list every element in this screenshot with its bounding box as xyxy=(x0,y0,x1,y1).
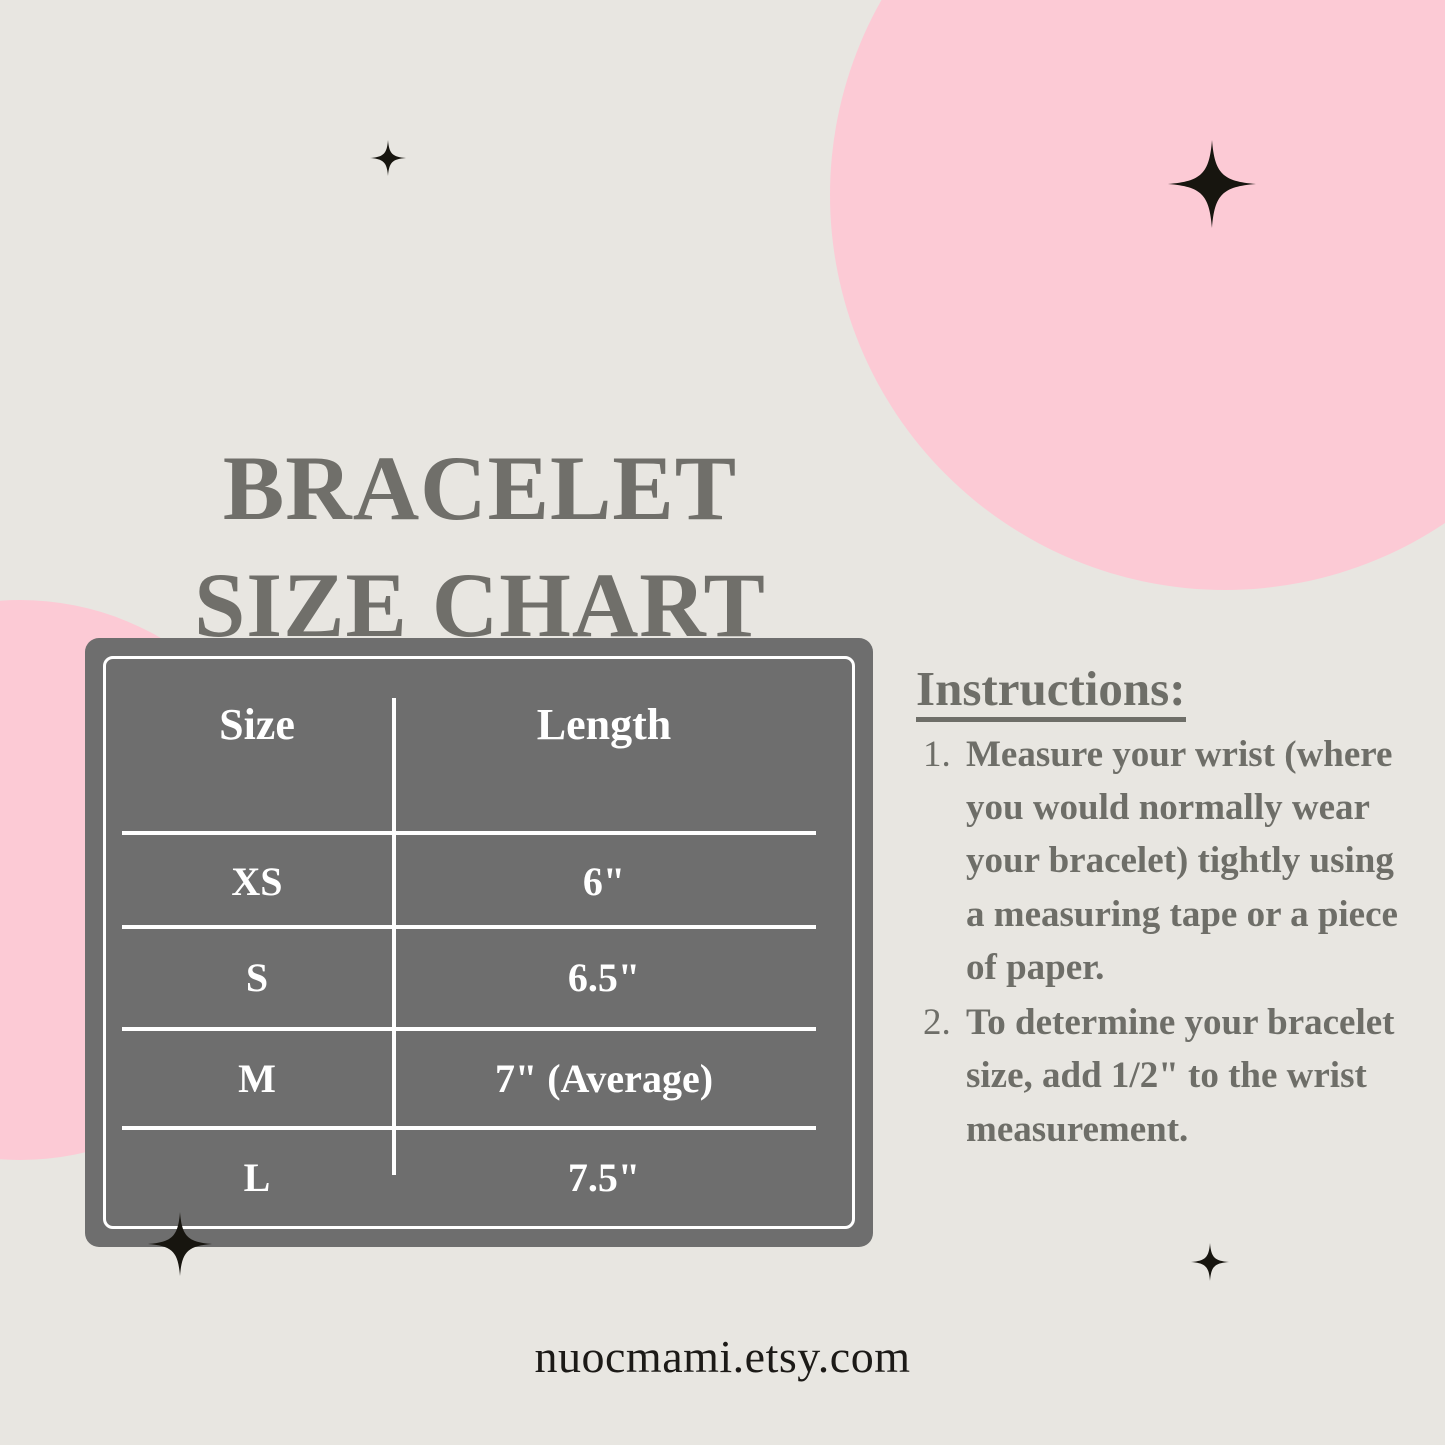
table-row: XS 6" xyxy=(122,835,816,929)
cell-length: 7" (Average) xyxy=(392,1059,816,1099)
sparkle-icon xyxy=(370,140,406,176)
table-row: L 7.5" xyxy=(122,1130,816,1225)
column-header-length: Length xyxy=(392,703,816,747)
size-chart-card: Size Length XS 6" S 6.5" M 7" (Average) … xyxy=(85,638,873,1247)
size-table: Size Length XS 6" S 6.5" M 7" (Average) … xyxy=(122,678,816,1208)
cell-size: M xyxy=(122,1059,392,1099)
cell-length: 7.5" xyxy=(392,1158,816,1198)
cell-length: 6" xyxy=(392,862,816,902)
sparkle-icon xyxy=(148,1212,212,1276)
instructions-list: Measure your wrist (where you would norm… xyxy=(916,728,1398,1156)
instructions-block: Instructions: Measure your wrist (where … xyxy=(916,662,1398,1158)
footer-shop-url: nuocmami.etsy.com xyxy=(0,1330,1445,1383)
instruction-item: To determine your bracelet size, add 1/2… xyxy=(960,996,1398,1156)
cell-length: 6.5" xyxy=(392,958,816,998)
table-row: S 6.5" xyxy=(122,929,816,1027)
column-header-size: Size xyxy=(122,703,392,747)
table-header-row: Size Length xyxy=(122,678,816,772)
page-title: BRACELET SIZE CHART xyxy=(0,430,960,666)
sparkle-icon xyxy=(1191,1243,1229,1281)
instructions-heading: Instructions: xyxy=(916,662,1186,722)
cell-size: XS xyxy=(122,862,392,902)
instruction-item: Measure your wrist (where you would norm… xyxy=(960,728,1398,994)
cell-size: S xyxy=(122,958,392,998)
cell-size: L xyxy=(122,1158,392,1198)
size-chart-poster: BRACELET SIZE CHART Size Length XS 6" S … xyxy=(0,0,1445,1445)
table-row: M 7" (Average) xyxy=(122,1031,816,1126)
sparkle-icon xyxy=(1168,140,1256,228)
